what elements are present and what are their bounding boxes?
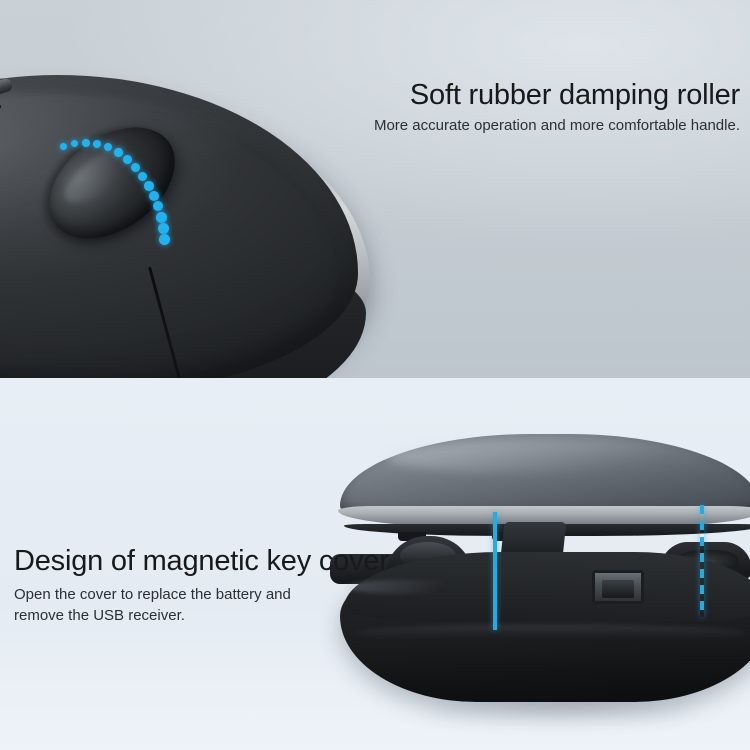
alignment-guide-line-dashed (700, 505, 704, 617)
page-subtitle-top: More accurate operation and more comfort… (320, 116, 740, 135)
bottom-text-block: Design of magnetic key cover Open the co… (14, 544, 454, 626)
scroll-wheel-dot (93, 140, 101, 148)
section-soft-rubber-damping-roller: Soft rubber damping roller More accurate… (0, 0, 750, 378)
alignment-guide-line-solid (493, 512, 497, 630)
scroll-wheel-dot (158, 223, 169, 234)
section-design-of-magnetic-key-cover: Design of magnetic key cover Open the co… (0, 378, 750, 750)
scroll-wheel-dot (71, 140, 78, 147)
page-subtitle-bottom: Open the cover to replace the battery an… (14, 584, 454, 626)
scroll-wheel-dot (138, 172, 147, 181)
cover-dome-gloss (386, 440, 706, 474)
scroll-wheel-dot (149, 191, 159, 201)
scroll-wheel-dot (82, 139, 90, 147)
scroll-wheel-dot (131, 163, 140, 172)
usb-receiver-port (602, 580, 634, 598)
scroll-wheel-dot (104, 143, 112, 151)
scroll-wheel-dot (144, 181, 154, 191)
scroll-wheel-dot (159, 234, 170, 245)
scroll-wheel-dot (114, 148, 123, 157)
page-subtitle-bottom-line-1: Open the cover to replace the battery an… (14, 586, 291, 603)
base-edge-gloss (354, 624, 746, 642)
scroll-wheel-dot (153, 201, 163, 211)
page-title-top: Soft rubber damping roller (320, 78, 740, 112)
page-subtitle-bottom-line-2: remove the USB receiver. (14, 607, 185, 624)
scroll-wheel-dot (123, 155, 132, 164)
top-text-block: Soft rubber damping roller More accurate… (320, 78, 740, 135)
scroll-wheel-dot (60, 143, 67, 150)
page-title-bottom: Design of magnetic key cover (14, 544, 454, 578)
scroll-wheel-dot (156, 212, 167, 223)
product-feature-page: Soft rubber damping roller More accurate… (0, 0, 750, 750)
